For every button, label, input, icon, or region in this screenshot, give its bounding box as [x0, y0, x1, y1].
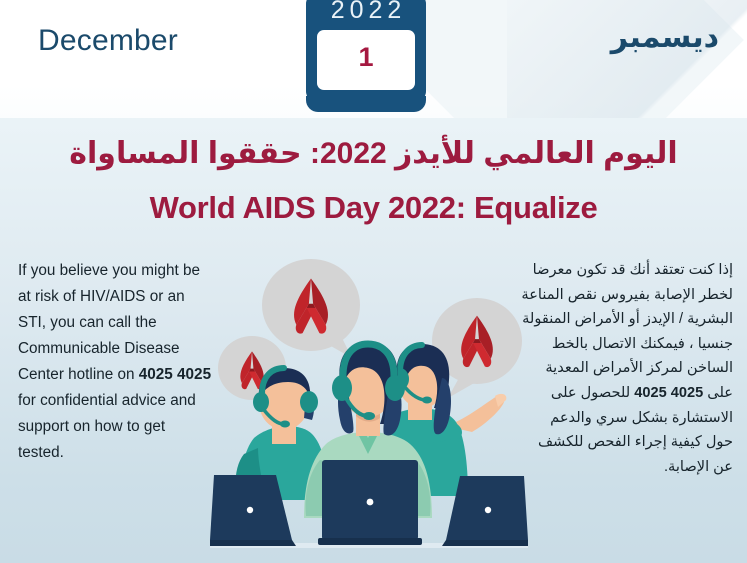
calendar-day: 1 — [317, 42, 415, 73]
month-label-arabic: ديسمبر — [611, 20, 719, 55]
calendar-body: 1 — [317, 30, 415, 90]
laptop-center — [318, 460, 422, 545]
month-label-english: December — [38, 24, 178, 58]
calendar-icon-foot — [306, 96, 426, 112]
call-center-illustration — [210, 248, 528, 563]
poster-root: December ديسمبر 2022 1 اليوم العالمي للأ… — [0, 0, 747, 563]
hotline-number-arabic: 4025 4025 — [634, 385, 703, 401]
page-title-english: World AIDS Day 2022: Equalize — [0, 190, 747, 226]
body-english-part1: If you believe you might be at risk of H… — [18, 262, 200, 383]
header-diagonal-shape — [376, 0, 744, 118]
body-text-english: If you believe you might be at risk of H… — [18, 258, 214, 466]
hotline-number-english: 4025 4025 — [139, 366, 211, 383]
body-english-part2: for confidential advice and support on h… — [18, 392, 196, 461]
calendar-year: 2022 — [306, 0, 426, 25]
speech-bubble-center — [262, 259, 360, 358]
page-title-arabic: اليوم العالمي للأيدز 2022: حققوا المساوا… — [0, 136, 747, 171]
body-text-arabic: إذا كنت تعتقد أنك قد تكون معرضا لخطر الإ… — [521, 258, 733, 479]
calendar-icon: 2022 1 — [306, 0, 426, 102]
body-arabic-part1: إذا كنت تعتقد أنك قد تكون معرضا لخطر الإ… — [521, 262, 733, 401]
